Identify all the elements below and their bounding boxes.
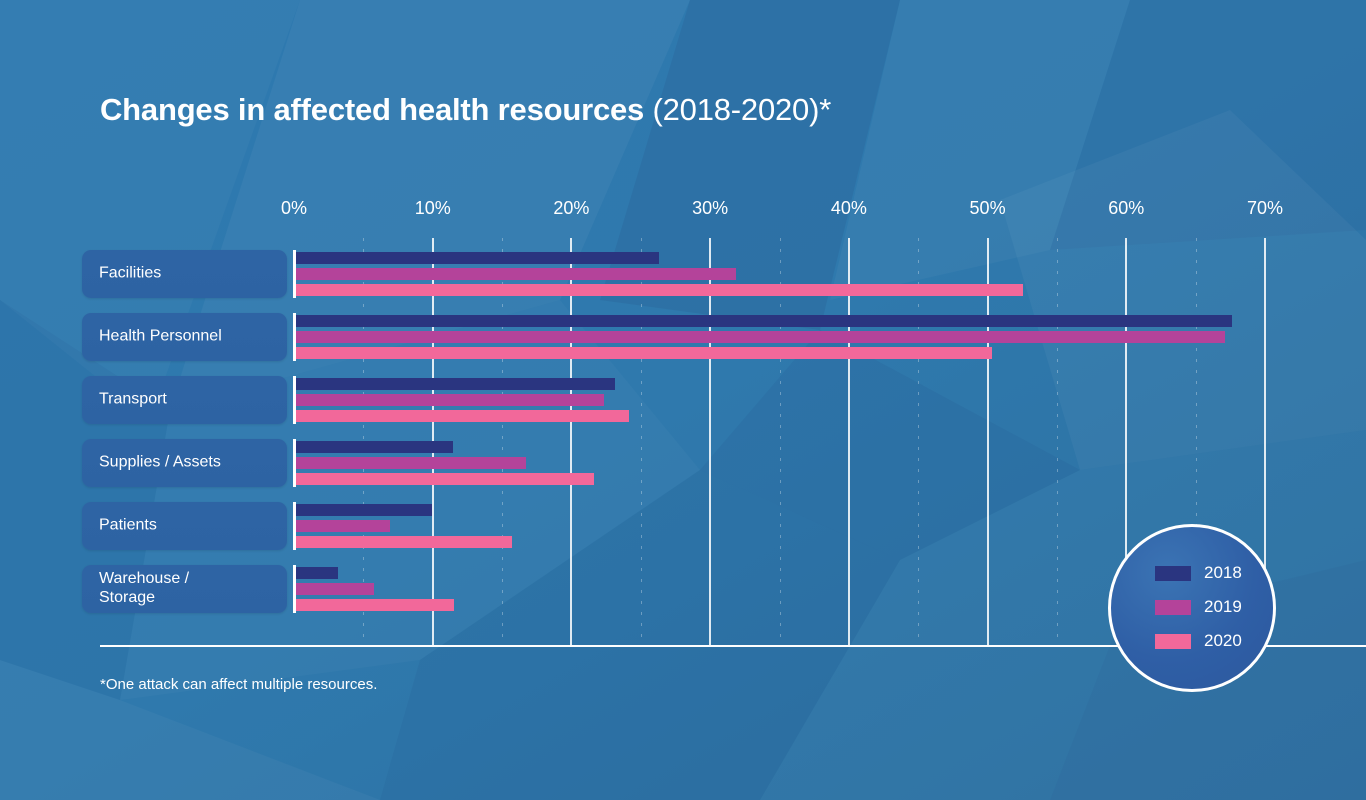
category-label-pill[interactable]: Warehouse / Storage [82,565,287,613]
category-label: Health Personnel [99,328,222,347]
chart-row: Transport [0,376,1366,432]
bar-2020[interactable] [296,284,1023,296]
bar-2020[interactable] [296,473,594,485]
legend-swatch-icon [1155,634,1191,649]
chart-row: Facilities [0,250,1366,306]
bar-2018[interactable] [296,252,659,264]
chart-row: Health Personnel [0,313,1366,369]
category-label-pill[interactable]: Transport [82,376,287,424]
x-tick-label: 20% [553,198,589,219]
legend-item-2020[interactable]: 2020 [1155,631,1242,651]
x-tick-label: 50% [970,198,1006,219]
chart-footnote: *One attack can affect multiple resource… [100,676,377,693]
legend-item-2019[interactable]: 2019 [1155,597,1242,617]
bar-2018[interactable] [296,567,338,579]
x-tick-label: 70% [1247,198,1283,219]
bar-2020[interactable] [296,599,454,611]
category-label: Supplies / Assets [99,454,221,473]
chart-row: Supplies / Assets [0,439,1366,495]
legend-label: 2019 [1204,597,1242,617]
bar-2018[interactable] [296,504,432,516]
bar-2019[interactable] [296,520,390,532]
x-tick-label: 0% [281,198,307,219]
category-label-pill[interactable]: Health Personnel [82,313,287,361]
bar-2018[interactable] [296,441,453,453]
category-label-pill[interactable]: Supplies / Assets [82,439,287,487]
x-tick-label: 60% [1108,198,1144,219]
category-label: Warehouse / Storage [99,570,189,608]
chart-legend: 201820192020 [1108,524,1276,692]
legend-item-2018[interactable]: 2018 [1155,563,1242,583]
legend-label: 2018 [1204,563,1242,583]
category-label: Patients [99,517,157,536]
legend-label: 2020 [1204,631,1242,651]
x-tick-label: 30% [692,198,728,219]
category-label: Transport [99,391,167,410]
bar-2020[interactable] [296,410,629,422]
category-label-pill[interactable]: Patients [82,502,287,550]
category-label: Facilities [99,265,161,284]
bar-2020[interactable] [296,347,992,359]
x-tick-label: 40% [831,198,867,219]
category-label-pill[interactable]: Facilities [82,250,287,298]
bar-2018[interactable] [296,378,615,390]
bar-2019[interactable] [296,331,1225,343]
bar-2019[interactable] [296,457,526,469]
bar-2019[interactable] [296,268,736,280]
chart-canvas: Changes in affected health resources (20… [0,0,1366,800]
legend-swatch-icon [1155,600,1191,615]
legend-swatch-icon [1155,566,1191,581]
x-tick-label: 10% [415,198,451,219]
bar-2020[interactable] [296,536,512,548]
bar-2019[interactable] [296,583,374,595]
bar-2019[interactable] [296,394,604,406]
bar-2018[interactable] [296,315,1232,327]
